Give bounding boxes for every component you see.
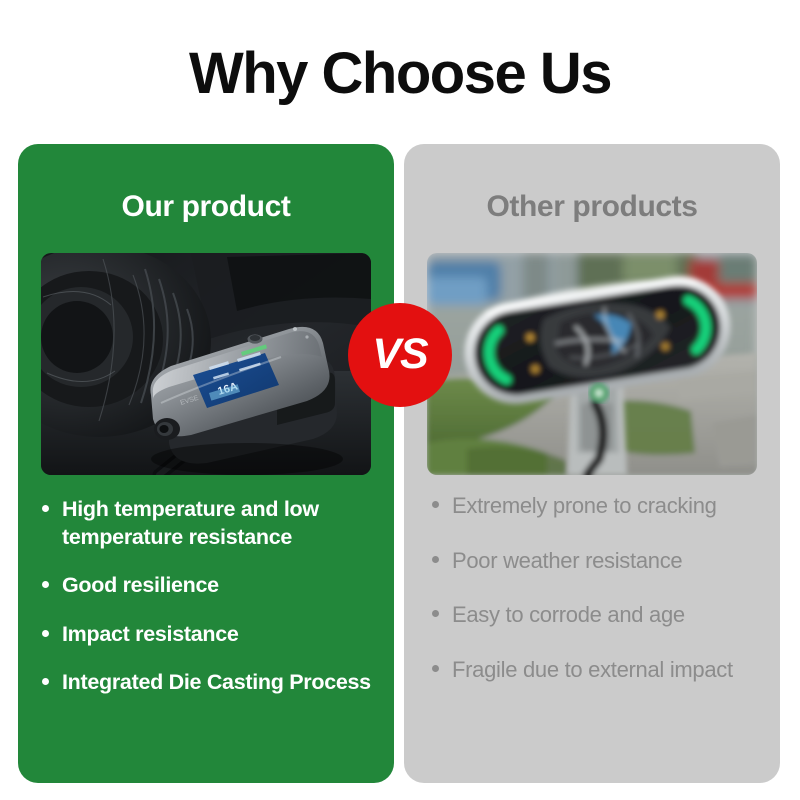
list-item: Good resilience: [40, 572, 378, 600]
list-item: Poor weather resistance: [430, 547, 760, 576]
other-products-bullet-list: Extremely prone to cracking Poor weather…: [430, 492, 760, 710]
other-products-photo: [427, 253, 757, 475]
our-product-photo: 16A EVSE: [41, 253, 371, 475]
our-product-heading: Our product: [18, 190, 394, 224]
list-item: Impact resistance: [40, 621, 378, 649]
list-item: Easy to corrode and age: [430, 601, 760, 630]
list-item: Fragile due to external impact: [430, 656, 760, 685]
list-item: High temperature and low temperature res…: [40, 496, 378, 551]
other-products-panel: Other products: [404, 144, 780, 783]
our-product-bullet-list: High temperature and low temperature res…: [40, 496, 378, 718]
other-products-heading: Other products: [404, 190, 780, 224]
our-product-panel: Our product: [18, 144, 394, 783]
other-products-photo-image: [427, 253, 757, 475]
list-item: Extremely prone to cracking: [430, 492, 760, 521]
vs-badge-label: VS: [372, 330, 427, 379]
page-title: Why Choose Us: [0, 44, 800, 105]
vs-badge: VS: [348, 303, 452, 407]
our-product-photo-image: 16A EVSE: [41, 253, 371, 475]
list-item: Integrated Die Casting Process: [40, 669, 378, 697]
